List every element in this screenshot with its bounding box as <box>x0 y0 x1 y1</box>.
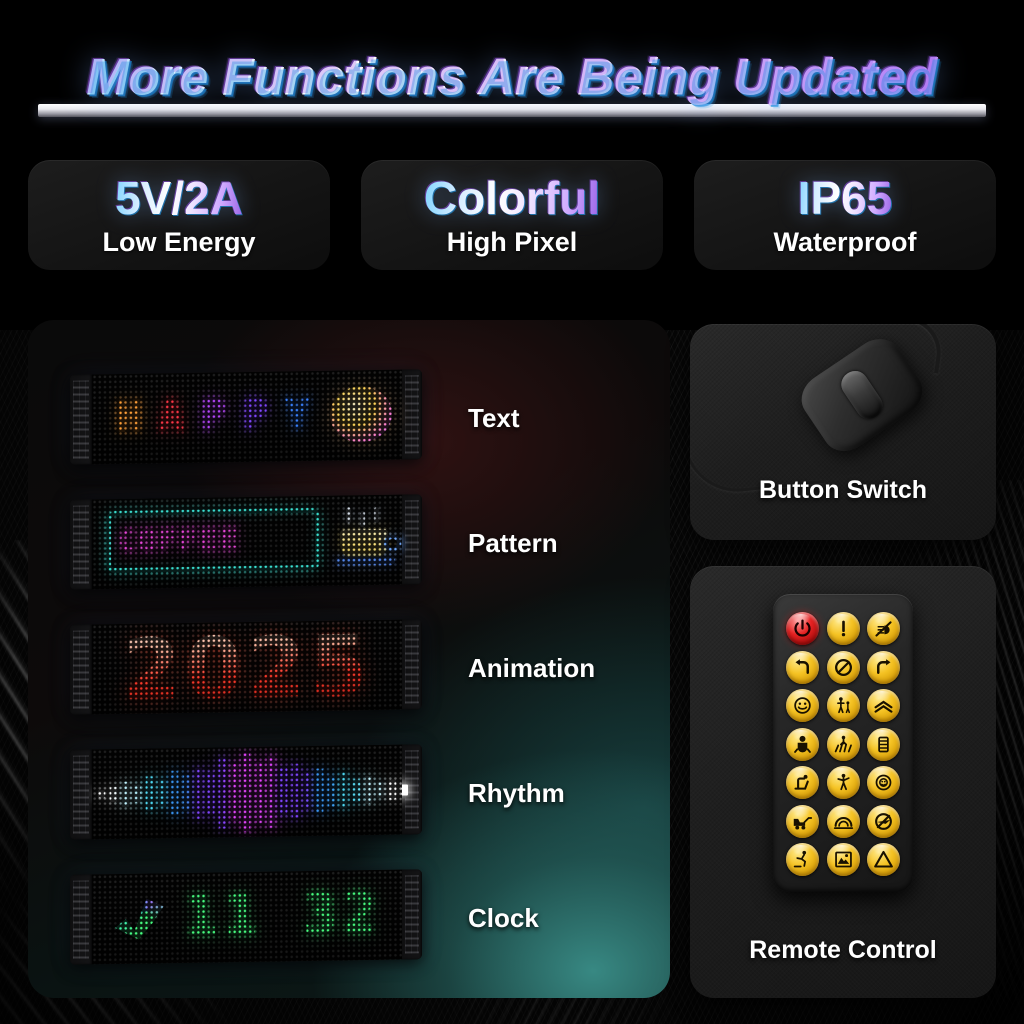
mode-label-rhythm: Rhythm <box>468 778 565 809</box>
led-eq-bar <box>122 781 129 806</box>
led-letter: P <box>200 394 227 438</box>
no-aircraft-icon <box>873 811 894 832</box>
mode-label-animation: Animation <box>468 653 595 684</box>
led-eq-bar <box>110 787 117 802</box>
remote-button-arch[interactable] <box>827 805 860 838</box>
led-eq-bar <box>401 784 408 795</box>
remote-button-power[interactable] <box>786 612 819 645</box>
remote-button-crosswalk[interactable] <box>827 728 860 761</box>
badge-power-subtitle: Low Energy <box>102 227 255 258</box>
mode-label-clock: Clock <box>468 903 539 934</box>
led-panel-clock: 11 32 <box>70 869 422 965</box>
led-bird-icon <box>114 891 168 942</box>
remote-button-row <box>786 766 900 799</box>
header: More Functions Are Being Updated <box>0 46 1024 126</box>
badge-color-subtitle: High Pixel <box>447 227 578 258</box>
badge-ingress-title: IP65 <box>798 173 893 223</box>
page-title: More Functions Are Being Updated <box>0 46 1024 108</box>
remote-button-slip-hazard[interactable] <box>786 843 819 876</box>
remote-button-no-aircraft[interactable] <box>867 805 900 838</box>
led-panel-text: HAPPY <box>70 369 422 465</box>
led-content-clock: 11 32 <box>92 870 402 965</box>
pcb-edge-right <box>402 369 422 459</box>
pcb-edge-left <box>70 874 92 964</box>
led-eq-bar <box>292 764 299 818</box>
mode-label-text: Text <box>468 403 520 434</box>
power-icon <box>792 618 813 639</box>
led-matrix-text: HAPPY <box>92 370 402 465</box>
turn-left-icon <box>792 657 813 678</box>
button-switch-label: Button Switch <box>690 476 996 505</box>
turn-right-icon <box>873 657 894 678</box>
remote-button-face-target[interactable] <box>867 766 900 799</box>
led-eq-bar <box>98 790 105 798</box>
badge-ingress: IP65 Waterproof <box>694 160 996 270</box>
pcb-edge-left <box>70 749 92 839</box>
led-matrix-clock: 11 32 <box>92 870 402 965</box>
chevrons-up-icon <box>873 695 894 716</box>
pcb-edge-right <box>402 494 422 584</box>
remote-button-worker[interactable] <box>827 843 860 876</box>
led-letter: A <box>158 395 185 439</box>
remote-button-row <box>786 728 900 761</box>
remote-button-row <box>786 689 900 722</box>
remote-button-prohibited[interactable] <box>827 651 860 684</box>
led-eq-bar <box>195 767 202 818</box>
led-eq-bar <box>328 775 335 806</box>
led-steam <box>346 507 351 523</box>
led-content-year: 2025 <box>92 620 402 715</box>
worker-icon <box>833 849 854 870</box>
remote-control-label: Remote Control <box>690 936 996 965</box>
switch-rocker[interactable] <box>836 366 887 424</box>
badge-color-title: Colorful <box>424 173 600 223</box>
mode-label-pattern: Pattern <box>468 528 558 559</box>
badge-color: Colorful High Pixel <box>361 160 663 270</box>
remote-button-exclamation[interactable] <box>827 612 860 645</box>
dancer-icon <box>833 772 854 793</box>
pcb-edge-left <box>70 499 92 589</box>
led-panel-animation: 2025 <box>70 619 422 715</box>
led-eq-bar <box>231 764 238 821</box>
remote-button-tow-truck[interactable] <box>786 805 819 838</box>
led-eq-bar <box>304 772 311 810</box>
led-eq-bar <box>171 771 178 815</box>
led-steam <box>374 507 379 523</box>
remote-button-no-lights[interactable] <box>867 612 900 645</box>
remote-button-row <box>786 651 900 684</box>
remote-button-smiley[interactable] <box>786 689 819 722</box>
ladder-icon <box>873 734 894 755</box>
led-eq-bar <box>159 779 166 807</box>
led-eq-bar <box>340 772 347 808</box>
led-digits: 2025 <box>98 624 396 713</box>
led-matrix-animation: 2025 <box>92 620 402 715</box>
child-seat-icon <box>792 734 813 755</box>
exclamation-icon <box>833 618 854 639</box>
led-panel-pattern: COFFEE <box>70 494 422 590</box>
remote-button-chevrons-up[interactable] <box>867 689 900 722</box>
tow-truck-icon <box>792 811 813 832</box>
led-clock-digits: 11 32 <box>184 886 383 945</box>
led-steam <box>360 511 365 527</box>
led-eq-bar <box>219 757 226 828</box>
led-eq-bar <box>256 761 263 822</box>
pcb-edge-left <box>70 624 92 714</box>
led-letter: H <box>116 396 143 440</box>
remote-button-turn-left[interactable] <box>786 651 819 684</box>
badge-power: 5V/2A Low Energy <box>28 160 330 270</box>
led-modes-showcase: HAPPY Text COFFEE Pattern 2025 Animation… <box>28 320 670 998</box>
slip-hazard-icon <box>792 849 813 870</box>
no-lights-icon <box>873 618 894 639</box>
remote-control-card: Remote Control <box>690 566 996 998</box>
led-matrix-rhythm <box>92 745 402 840</box>
led-eq-bar <box>243 752 250 831</box>
button-switch-card: Button Switch <box>690 324 996 540</box>
led-letter: P <box>242 394 269 438</box>
led-eq-bar <box>365 776 372 804</box>
pcb-edge-right <box>402 869 422 959</box>
led-eq-bar <box>146 776 153 810</box>
led-emoji <box>330 386 392 443</box>
pedestrian-icon <box>833 695 854 716</box>
remote-button-row <box>786 843 900 876</box>
led-eq-bar <box>377 782 384 798</box>
led-word: COFFEE <box>118 523 240 557</box>
pcb-edge-right <box>402 619 422 709</box>
crosswalk-icon <box>833 734 854 755</box>
led-content-coffee: COFFEE <box>92 495 402 590</box>
led-matrix-pattern: COFFEE <box>92 495 402 590</box>
led-content-equalizer <box>92 745 402 840</box>
warning-triangle-icon <box>873 849 894 870</box>
recline-seat-icon <box>792 772 813 793</box>
remote-button-turn-right[interactable] <box>867 651 900 684</box>
face-target-icon <box>873 772 894 793</box>
feature-badges: 5V/2A Low Energy Colorful High Pixel IP6… <box>28 160 996 282</box>
remote-button-recline-seat[interactable] <box>786 766 819 799</box>
led-letter: Y <box>284 393 311 437</box>
badge-power-title: 5V/2A <box>115 173 243 223</box>
remote-button-warning-triangle[interactable] <box>867 843 900 876</box>
led-cup-saucer <box>335 557 395 566</box>
remote-button-pedestrian[interactable] <box>827 689 860 722</box>
led-cup-handle <box>384 535 401 552</box>
remote-button-row <box>786 612 900 645</box>
badge-ingress-subtitle: Waterproof <box>774 227 917 258</box>
led-eq-bar <box>207 771 214 814</box>
remote-button-ladder[interactable] <box>867 728 900 761</box>
remote-button-child-seat[interactable] <box>786 728 819 761</box>
led-eq-bar <box>280 767 287 815</box>
led-eq-bar <box>353 779 360 802</box>
led-eq-bar <box>134 785 141 803</box>
led-panel-rhythm <box>70 744 422 840</box>
smiley-icon <box>792 695 813 716</box>
prohibited-icon <box>833 657 854 678</box>
led-eq-bar <box>183 775 190 811</box>
led-content-happy: HAPPY <box>92 370 402 465</box>
led-eq-bar <box>268 756 275 828</box>
led-eq-bar <box>316 769 323 813</box>
remote-button-row <box>786 805 900 838</box>
led-eq-bar <box>389 780 396 800</box>
remote-button-dancer[interactable] <box>827 766 860 799</box>
remote-control-body <box>773 594 913 892</box>
pcb-edge-left <box>70 374 92 464</box>
arch-icon <box>833 811 854 832</box>
